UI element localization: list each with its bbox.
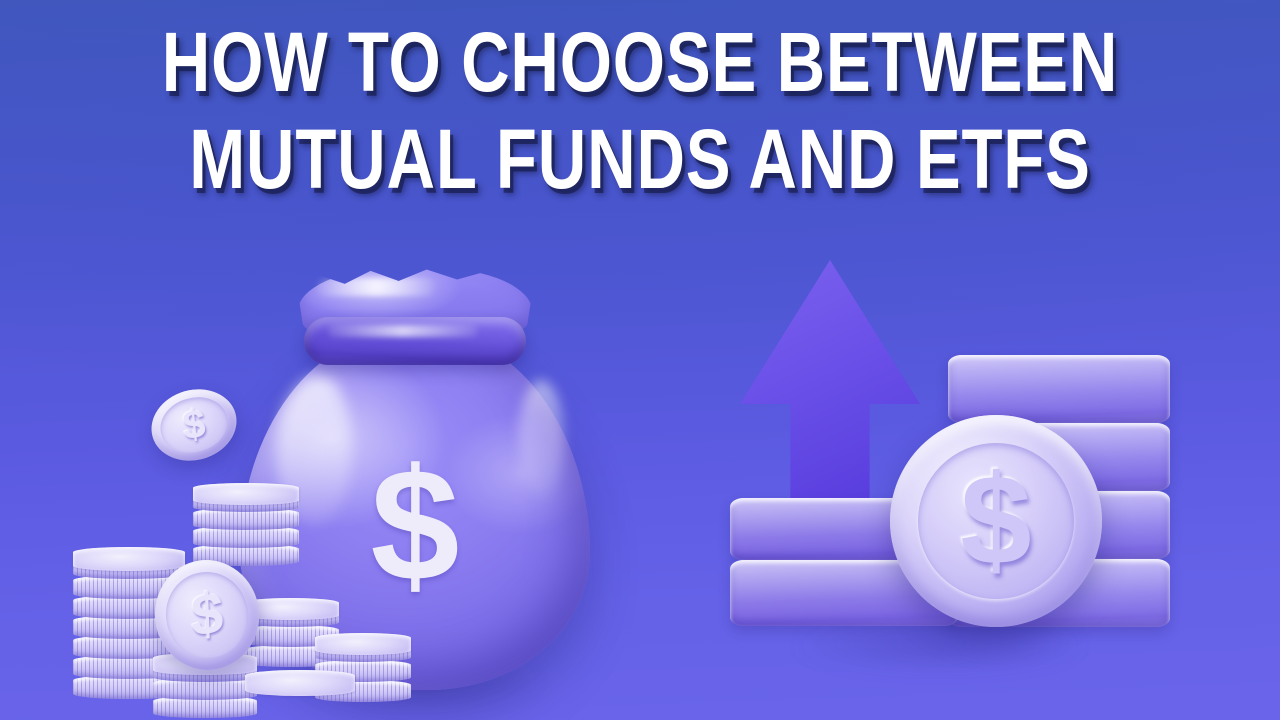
title-block: HOW TO CHOOSE BETWEEN MUTUAL FUNDS AND E… <box>0 14 1280 208</box>
dollar-sign-icon: $ <box>190 584 224 647</box>
thumbnail-canvas: HOW TO CHOOSE BETWEEN MUTUAL FUNDS AND E… <box>0 0 1280 720</box>
money-bag-illustration: $ $ <box>55 240 615 720</box>
dollar-sign-icon: $ <box>960 457 1031 585</box>
dollar-coin: $ <box>890 415 1102 627</box>
coin-disc-top <box>73 547 185 571</box>
coin-disc-top <box>315 633 411 655</box>
growth-arrow-illustration: $ <box>720 255 1190 675</box>
coin-slab <box>948 355 1170 423</box>
coin-lying-flat <box>245 670 355 696</box>
title-line-1: HOW TO CHOOSE BETWEEN <box>128 14 1152 111</box>
bag-tie-band <box>304 317 526 365</box>
floating-coin: $ <box>143 380 245 471</box>
title-line-2: MUTUAL FUNDS AND ETFS <box>128 111 1152 208</box>
dollar-sign-icon: $ <box>181 403 207 447</box>
dollar-sign-icon: $ <box>240 445 590 605</box>
